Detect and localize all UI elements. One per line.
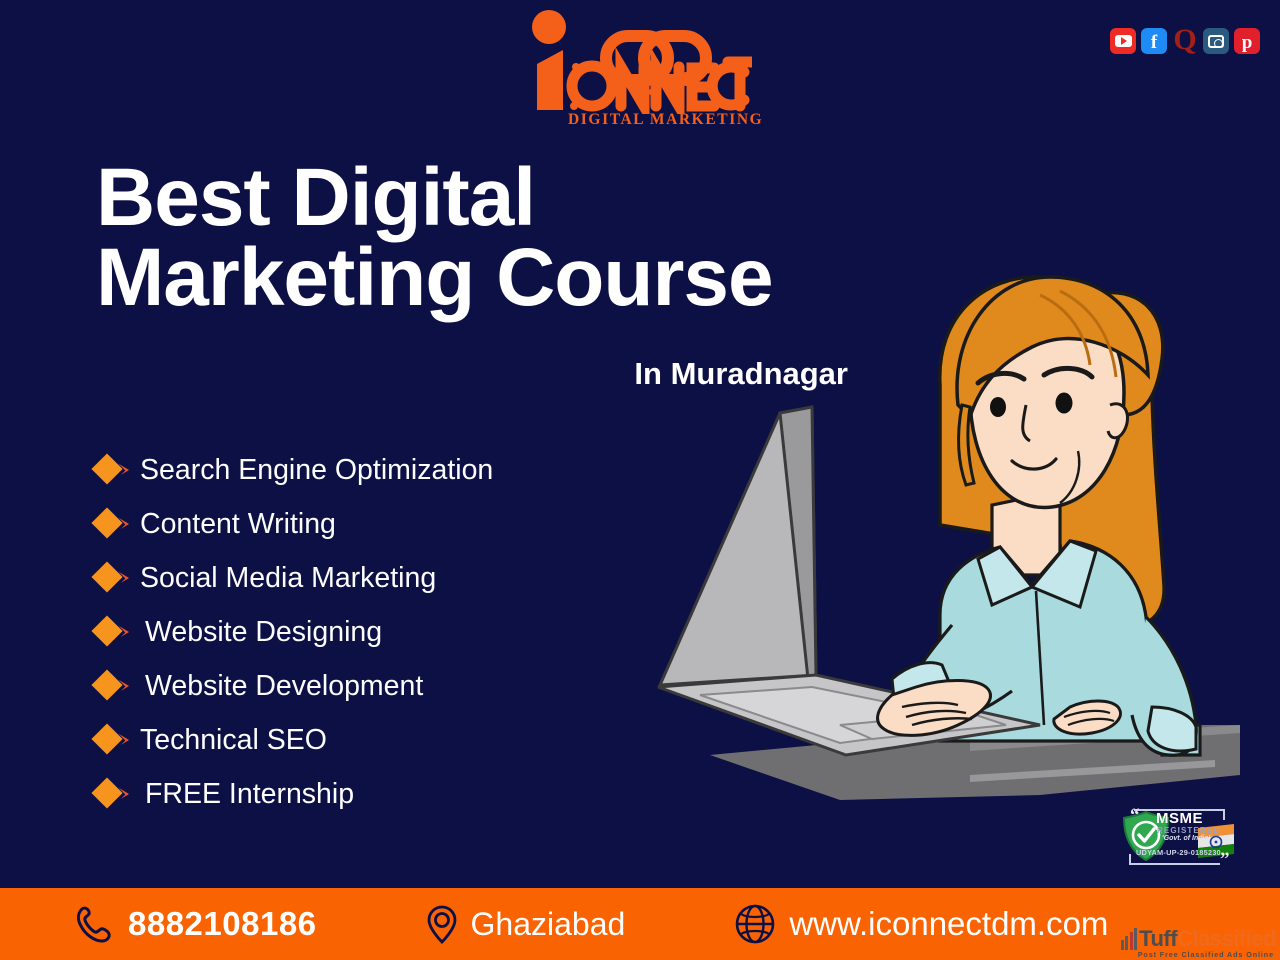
msme-udyam-number: UDYAM-UP-29-0185230: [1136, 848, 1221, 857]
instagram-icon[interactable]: [1203, 28, 1229, 54]
location-pin-icon: [425, 902, 459, 946]
quote-open-icon: “: [1130, 806, 1140, 825]
diamond-arrow-bullet-icon: [92, 507, 140, 541]
contact-footer-bar: 8882108186 Ghaziabad www.iconnectdm.com: [0, 888, 1280, 960]
list-item: Website Development: [92, 659, 672, 713]
msme-title: MSME: [1156, 810, 1203, 827]
feature-label: Content Writing: [140, 508, 336, 541]
diamond-arrow-bullet-icon: [92, 777, 140, 811]
feature-label: Technical SEO: [140, 724, 327, 757]
footer-website[interactable]: www.iconnectdm.com: [733, 902, 1108, 946]
feature-label: FREE Internship: [140, 778, 354, 811]
list-item: Website Designing: [92, 605, 672, 659]
diamond-arrow-bullet-icon: [92, 669, 140, 703]
diamond-arrow-bullet-icon: [92, 453, 140, 487]
feature-list: Search Engine Optimization Content Writi…: [92, 443, 672, 821]
social-links[interactable]: f Q p: [1110, 28, 1260, 54]
phone-number: 8882108186: [128, 905, 317, 943]
list-item: Search Engine Optimization: [92, 443, 672, 497]
list-item: FREE Internship: [92, 767, 672, 821]
msme-registered-badge: “ ” MSME REGISTERED 'Govt. of India' UDY…: [1112, 798, 1242, 874]
poster-canvas: DIGITAL MARKETING f Q p Best Digital Mar…: [0, 0, 1280, 960]
website-url: www.iconnectdm.com: [789, 905, 1108, 943]
watermark-brand-part2: Classified: [1177, 928, 1276, 950]
headline-line-1: Best Digital: [96, 152, 535, 243]
footer-location[interactable]: Ghaziabad: [425, 902, 626, 946]
footer-phone[interactable]: 8882108186: [74, 903, 317, 945]
list-item: Content Writing: [92, 497, 672, 551]
bar-chart-icon: [1121, 928, 1138, 950]
diamond-arrow-bullet-icon: [92, 615, 140, 649]
feature-label: Website Designing: [140, 616, 382, 649]
list-item: Social Media Marketing: [92, 551, 672, 605]
pinterest-icon[interactable]: p: [1234, 28, 1260, 54]
diamond-arrow-bullet-icon: [92, 723, 140, 757]
logo-tagline: DIGITAL MARKETING: [568, 111, 763, 129]
diamond-arrow-bullet-icon: [92, 561, 140, 595]
facebook-icon[interactable]: f: [1141, 28, 1167, 54]
city-name: Ghaziabad: [471, 906, 626, 943]
globe-icon: [733, 902, 777, 946]
tuffclassified-watermark: Tuff Classified Post Free Classified Ads…: [1121, 928, 1276, 958]
msme-registered-text: REGISTERED: [1157, 826, 1220, 835]
brand-logo[interactable]: DIGITAL MARKETING: [520, 6, 752, 130]
feature-label: Website Development: [140, 670, 423, 703]
phone-icon: [74, 903, 114, 945]
list-item: Technical SEO: [92, 713, 672, 767]
feature-label: Social Media Marketing: [140, 562, 436, 595]
quote-close-icon: ”: [1220, 850, 1230, 869]
woman-typing-laptop-illustration: [640, 255, 1240, 835]
iconnect-logo-mark: [520, 6, 752, 114]
msme-govt-text: 'Govt. of India': [1162, 835, 1210, 842]
watermark-brand-part1: Tuff: [1139, 928, 1177, 950]
quora-icon[interactable]: Q: [1172, 28, 1198, 54]
watermark-tagline: Post Free Classified Ads Online: [1138, 951, 1274, 958]
youtube-icon[interactable]: [1110, 28, 1136, 54]
feature-label: Search Engine Optimization: [140, 454, 493, 487]
